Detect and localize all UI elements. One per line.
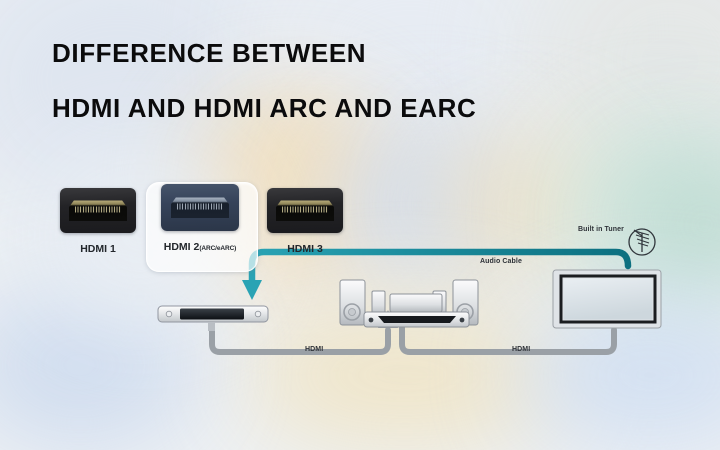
hdmi-port-1[interactable]: HDMI 1 [50, 188, 146, 255]
hdmi-port-3-name: HDMI 3 [287, 243, 323, 255]
hdmi-port-1-name: HDMI 1 [80, 243, 116, 255]
hdmi-port-1-label: HDMI 1 [50, 243, 146, 255]
hdmi-port-opening [276, 200, 334, 221]
hdmi-port-3[interactable]: HDMI 3 [257, 188, 353, 255]
hdmi-cable-label-right: HDMI [512, 346, 530, 353]
hdmi-port-3-label: HDMI 3 [257, 243, 353, 255]
hdmi-port-2-arc-note: (ARC/eARC) [199, 245, 236, 252]
hdmi-port-2[interactable]: HDMI 2(ARC/eARC) [152, 184, 248, 253]
page-title: DIFFERENCE BETWEEN HDMI AND HDMI ARC AND… [52, 40, 476, 121]
hdmi-port-2-label: HDMI 2(ARC/eARC) [152, 241, 248, 253]
hdmi-cable-label-left: HDMI [305, 346, 323, 353]
title-line-1: DIFFERENCE BETWEEN [52, 40, 476, 66]
home-theater-system-device [340, 280, 478, 327]
hdmi-pin-contacts [177, 204, 223, 210]
audio-cable-label: Audio Cable [480, 258, 522, 265]
antenna-tuner-icon [629, 229, 655, 255]
television-device [553, 270, 661, 328]
disc-player-device [158, 306, 268, 331]
hdmi-port-opening [69, 200, 127, 221]
hdmi-port-opening [171, 197, 229, 218]
title-line-2: HDMI AND HDMI ARC AND EARC [52, 95, 476, 121]
hdmi-port-2-name: HDMI 2 [164, 241, 200, 253]
hdmi-connector-icon [161, 184, 239, 231]
built-in-tuner-label: Built in Tuner [578, 226, 624, 233]
hdmi-connector-icon [267, 188, 343, 233]
hdmi-pin-contacts [75, 207, 121, 213]
hdmi-pin-contacts [282, 207, 328, 213]
hdmi-connector-icon [60, 188, 136, 233]
